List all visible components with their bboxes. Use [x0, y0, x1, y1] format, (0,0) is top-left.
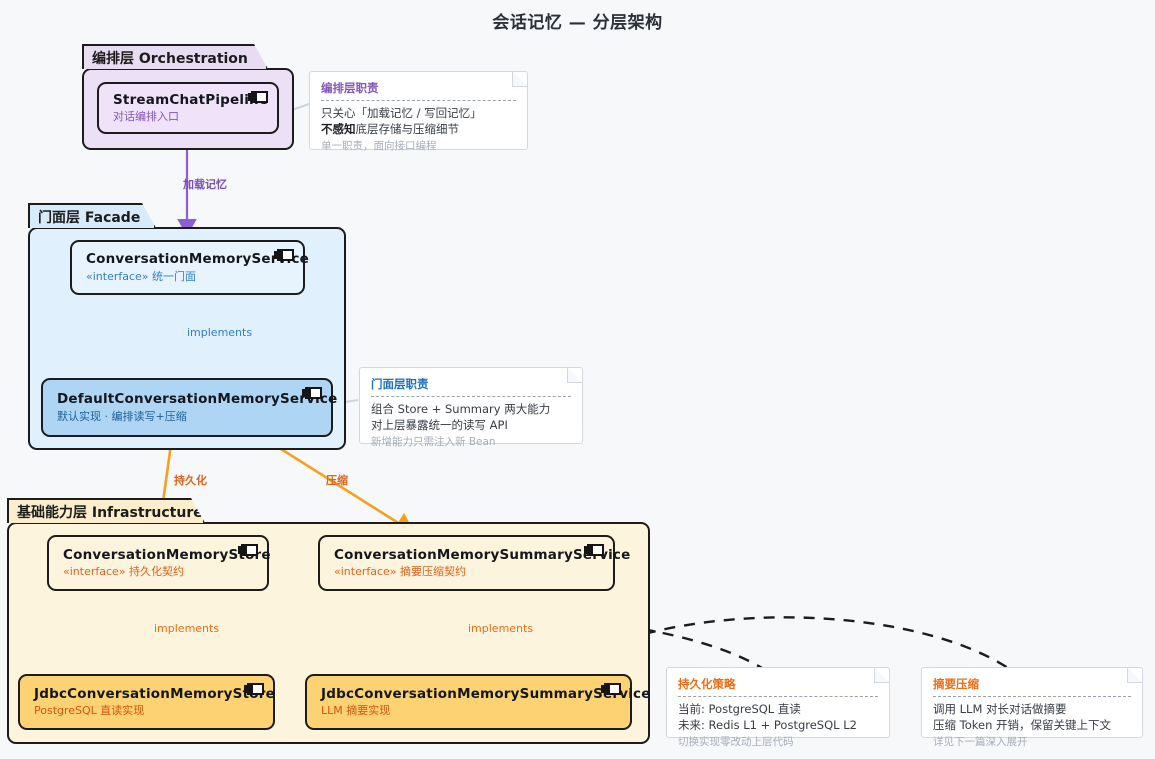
uml-component-icon	[587, 544, 604, 556]
note-orchestration-duty: 编排层职责 只关心「加载记忆 / 写回记忆」 不感知底层存储与压缩细节 单一职责…	[309, 71, 528, 150]
package-infrastructure-tab: 基础能力层 Infrastructure	[7, 498, 205, 523]
note-footnote: 单一职责，面向接口编程	[321, 139, 516, 153]
note-divider	[678, 696, 878, 697]
node-subtitle: PostgreSQL 直读实现	[34, 705, 259, 718]
note-line: 调用 LLM 对长对话做摘要	[933, 702, 1131, 718]
package-facade-tab: 门面层 Facade	[28, 203, 156, 228]
diagram-canvas: 会话记忆 — 分层架构	[0, 0, 1155, 759]
note-facade-duty: 门面层职责 组合 Store + Summary 两大能力 对上层暴露统一的读写…	[359, 367, 583, 444]
uml-component-icon	[251, 91, 268, 103]
note-line: 压缩 Token 开销，保留关键上下文	[933, 718, 1131, 734]
note-line: 对上层暴露统一的读写 API	[371, 418, 571, 434]
note-footnote: 切换实现零改动上层代码	[678, 735, 878, 749]
note-divider	[933, 696, 1131, 697]
node-name: JdbcConversationMemoryStore	[34, 687, 259, 703]
node-subtitle: 对话编排入口	[113, 111, 263, 124]
note-line: 未来: Redis L1 + PostgreSQL L2	[678, 718, 878, 734]
note-title: 摘要压缩	[933, 676, 1131, 692]
edge-label-implements-store: implements	[154, 622, 219, 635]
note-footnote: 详见下一篇深入展开	[933, 735, 1131, 749]
node-subtitle: LLM 摘要实现	[321, 705, 616, 718]
node-conversation-memory-store[interactable]: ConversationMemoryStore «interface» 持久化契…	[47, 535, 269, 591]
uml-component-icon	[247, 683, 264, 695]
node-name: JdbcConversationMemorySummaryService	[321, 687, 616, 703]
note-persistence-strategy: 持久化策略 当前: PostgreSQL 直读 未来: Redis L1 + P…	[666, 667, 890, 738]
edge-label-implements-summary: implements	[468, 622, 533, 635]
note-title: 门面层职责	[371, 376, 571, 392]
note-line: 当前: PostgreSQL 直读	[678, 702, 878, 718]
note-line-emphasis: 不感知	[321, 122, 356, 136]
note-divider	[371, 396, 571, 397]
edge-label-load-memory: 加载记忆	[183, 176, 227, 192]
edge-label-compress: 压缩	[326, 472, 348, 488]
note-line: 不感知底层存储与压缩细节	[321, 122, 516, 138]
node-conversation-memory-summary-service[interactable]: ConversationMemorySummaryService «interf…	[318, 535, 615, 591]
node-conversation-memory-service[interactable]: ConversationMemoryService «interface» 统一…	[70, 240, 305, 295]
note-line-rest: 底层存储与压缩细节	[356, 122, 460, 136]
edge-label-persist: 持久化	[174, 472, 207, 488]
note-title: 编排层职责	[321, 80, 516, 96]
node-jdbc-conversation-memory-store[interactable]: JdbcConversationMemoryStore PostgreSQL 直…	[18, 674, 275, 730]
node-subtitle: «interface» 持久化契约	[63, 566, 253, 579]
node-jdbc-conversation-memory-summary-service[interactable]: JdbcConversationMemorySummaryService LLM…	[305, 674, 632, 730]
page-title: 会话记忆 — 分层架构	[0, 8, 1155, 33]
node-stream-chat-pipeline[interactable]: StreamChatPipeline 对话编排入口	[97, 82, 279, 134]
node-name: ConversationMemoryStore	[63, 548, 253, 564]
uml-component-icon	[277, 249, 294, 261]
uml-component-icon	[305, 387, 322, 399]
uml-component-icon	[241, 544, 258, 556]
node-name: ConversationMemorySummaryService	[334, 548, 599, 564]
note-leader-orchestration	[292, 104, 309, 110]
node-name: DefaultConversationMemoryService	[57, 392, 317, 408]
node-name: StreamChatPipeline	[113, 93, 263, 109]
edge-label-implements-facade: implements	[187, 326, 252, 339]
note-footnote: 新增能力只需注入新 Bean	[371, 435, 571, 449]
note-title: 持久化策略	[678, 676, 878, 692]
package-orchestration-tab: 编排层 Orchestration	[82, 44, 268, 69]
node-subtitle: «interface» 摘要压缩契约	[334, 566, 599, 579]
note-line: 组合 Store + Summary 两大能力	[371, 402, 571, 418]
node-subtitle: «interface» 统一门面	[86, 271, 289, 284]
note-divider	[321, 100, 516, 101]
node-default-conversation-memory-service[interactable]: DefaultConversationMemoryService 默认实现 · …	[41, 378, 333, 437]
uml-component-icon	[604, 683, 621, 695]
node-subtitle: 默认实现 · 编排读写+压缩	[57, 411, 317, 424]
note-summary-compression: 摘要压缩 调用 LLM 对长对话做摘要 压缩 Token 开销，保留关键上下文 …	[921, 667, 1143, 738]
node-name: ConversationMemoryService	[86, 252, 289, 268]
note-line: 只关心「加载记忆 / 写回记忆」	[321, 106, 516, 122]
